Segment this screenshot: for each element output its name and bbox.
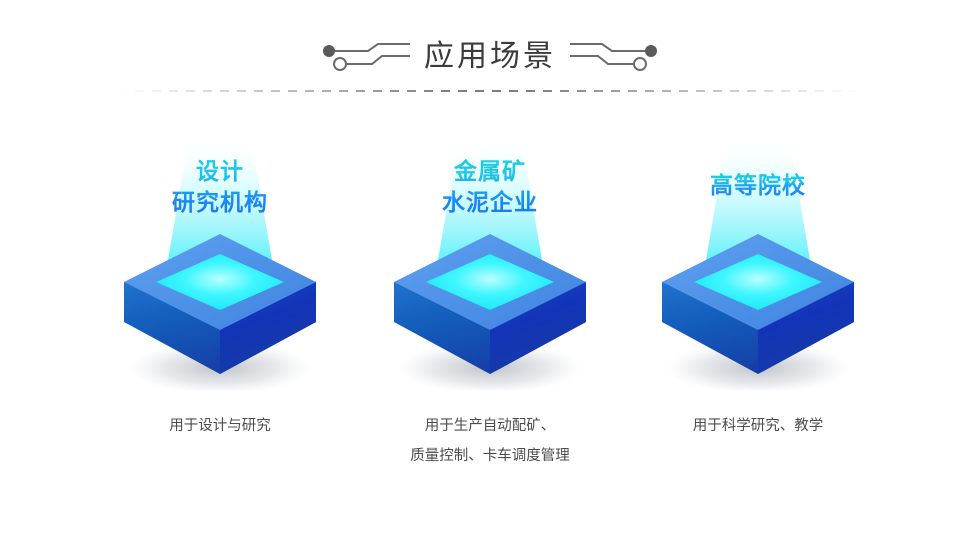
cube-stage: 金属矿 水泥企业	[340, 130, 640, 390]
scenario-caption: 用于科学研究、教学	[608, 412, 908, 442]
circuit-line-right-icon	[570, 42, 658, 72]
glowing-cube-icon	[340, 130, 640, 390]
scenario-columns: 设计 研究机构 用于设计与研究	[0, 130, 980, 530]
dashed-divider	[118, 90, 862, 92]
page-header: 应用场景	[0, 34, 980, 80]
cube-stage: 设计 研究机构	[70, 130, 370, 390]
page-title: 应用场景	[424, 42, 556, 72]
scenario-caption: 用于生产自动配矿、 质量控制、卡车调度管理	[340, 412, 640, 471]
scenario-caption: 用于设计与研究	[70, 412, 370, 442]
scenario-item: 金属矿 水泥企业 用于生产自动配矿、 质量控制、卡车调度管理	[340, 130, 640, 530]
glowing-cube-icon	[70, 130, 370, 390]
cube-stage: 高等院校	[608, 130, 908, 390]
circuit-line-left-icon	[322, 42, 410, 72]
scenario-item: 高等院校 用于科学研究、教学	[608, 130, 908, 530]
glowing-cube-icon	[608, 130, 908, 390]
scenario-item: 设计 研究机构 用于设计与研究	[70, 130, 370, 530]
